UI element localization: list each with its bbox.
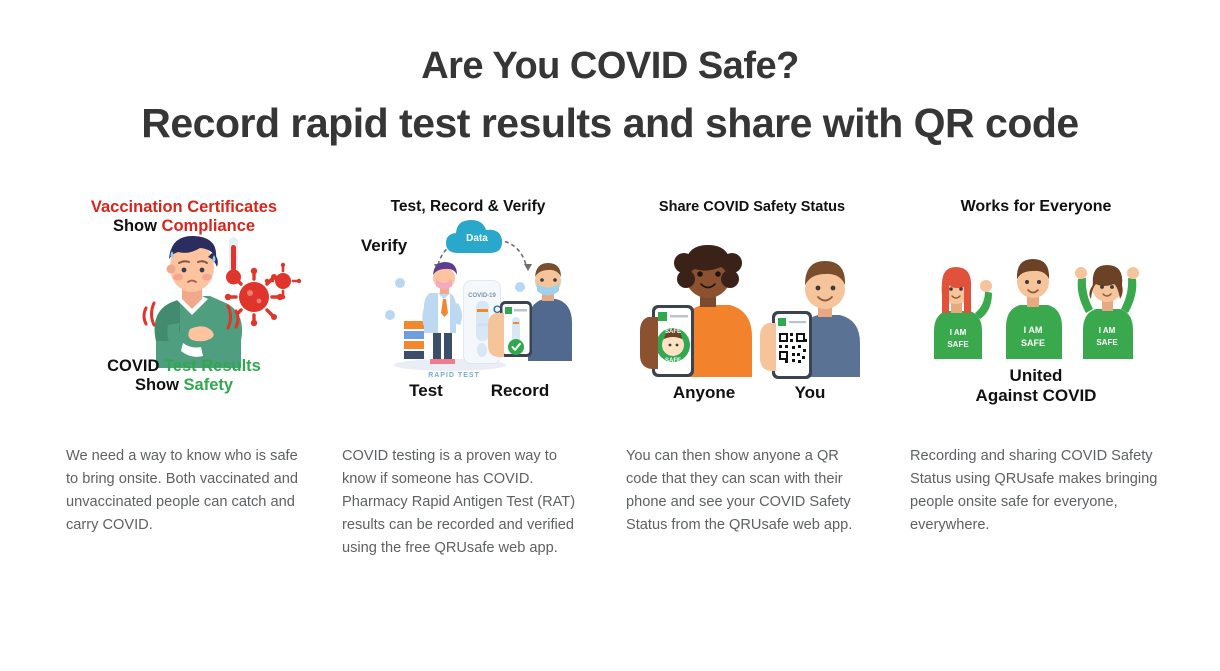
shirt-text-line1: I AM xyxy=(950,328,967,337)
hand-you xyxy=(760,323,776,371)
illustration-works-for-everyone-wrap: Works for Everyone I AM xyxy=(908,193,1164,405)
caption-vaccination-certificates: Vaccination Certificates xyxy=(91,198,277,216)
label-you: You xyxy=(795,383,826,402)
label-verify: Verify xyxy=(361,236,408,255)
person-right-figure: I AM SAFE xyxy=(1075,265,1139,359)
share-safety-status-illustration: Share COVID Safety Status xyxy=(624,193,880,405)
feature-column-share-safety-status: Share COVID Safety Status xyxy=(610,193,894,560)
feature-column-works-for-everyone: Works for Everyone I AM xyxy=(894,193,1178,560)
data-cloud-icon: Data xyxy=(446,220,502,253)
person-center-figure: I AM SAFE xyxy=(1006,259,1062,359)
feature-body-text: COVID testing is a proven way to know if… xyxy=(340,445,596,560)
shirt-text-line2: SAFE xyxy=(1021,338,1045,348)
caption-works-for-everyone: Works for Everyone xyxy=(961,198,1112,215)
shirt-text-line2: SAFE xyxy=(947,340,969,349)
arrow-head-right xyxy=(524,264,532,271)
caption-show-compliance: Show Compliance xyxy=(113,217,255,235)
test-record-verify-illustration: Test, Record & Verify Data Verify xyxy=(340,193,596,405)
hero-title-line-1: Are You COVID Safe? xyxy=(0,44,1220,89)
label-anyone: Anyone xyxy=(673,383,735,402)
feature-columns: Vaccination Certificates Show Compliance xyxy=(0,193,1220,560)
person-figure xyxy=(144,236,242,368)
virus-particle-small xyxy=(265,263,301,299)
feature-body-text: You can then show anyone a QR code that … xyxy=(624,445,880,537)
shirt-text-line1: I AM xyxy=(1099,326,1116,335)
illustration-share-status-wrap: Share COVID Safety Status xyxy=(624,193,880,405)
label-rapid-test: RAPID TEST xyxy=(428,372,480,379)
cassette-brand-label: COVID-19 xyxy=(468,293,496,299)
feature-body-text: Recording and sharing COVID Safety Statu… xyxy=(908,445,1164,537)
phone-qr-code xyxy=(772,311,812,379)
caption-covid-test-results: COVID Test Results xyxy=(107,357,261,375)
feature-column-vaccination-certificates: Vaccination Certificates Show Compliance xyxy=(42,193,326,560)
lab-worker-figure xyxy=(422,262,462,364)
feature-body-text: We need a way to know who is safe to bri… xyxy=(56,445,312,537)
illustration-test-record-verify-wrap: Test, Record & Verify Data Verify xyxy=(340,193,596,405)
hero-heading: Are You COVID Safe? Record rapid test re… xyxy=(0,0,1220,147)
caption-show-safety: Show Safety xyxy=(135,376,234,394)
caption-test-record-verify: Test, Record & Verify xyxy=(391,198,546,215)
record-phone xyxy=(500,301,532,357)
caption-against-covid: Against COVID xyxy=(976,386,1097,405)
feature-column-test-record-verify: Test, Record & Verify Data Verify xyxy=(326,193,610,560)
works-for-everyone-illustration: Works for Everyone I AM xyxy=(908,193,1164,405)
hand-anyone xyxy=(640,317,658,369)
shirt-text-line2: SAFE xyxy=(1096,338,1118,347)
label-record: Record xyxy=(491,381,550,400)
label-test: Test xyxy=(409,381,443,400)
hero-title-line-2: Record rapid test results and share with… xyxy=(0,99,1220,147)
person-left-figure: I AM SAFE xyxy=(934,267,992,359)
illustration-sick-person-wrap: Vaccination Certificates Show Compliance xyxy=(56,193,312,405)
sick-person-illustration: Vaccination Certificates Show Compliance xyxy=(56,193,312,405)
badge-safe-bottom: SAFE xyxy=(665,358,681,364)
badge-safe-top: SAFE xyxy=(665,329,681,335)
shirt-text-line1: I AM xyxy=(1024,325,1043,335)
caption-united: United xyxy=(1010,366,1063,385)
phone-safe-status: SAFE SAFE xyxy=(652,305,694,377)
boxes-stack xyxy=(404,321,424,359)
landing-page: Are You COVID Safe? Record rapid test re… xyxy=(0,0,1220,671)
hand-holding-phone xyxy=(488,313,504,357)
cloud-label: Data xyxy=(466,233,488,244)
caption-share-covid-safety-status: Share COVID Safety Status xyxy=(659,199,845,215)
